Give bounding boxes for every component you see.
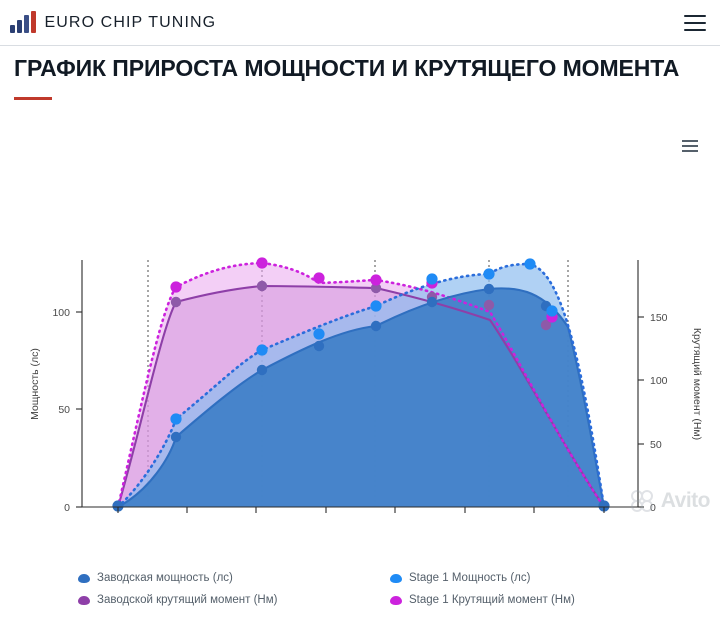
y-axis-left-ticks [76, 312, 82, 507]
legend-marker-stock-torque [78, 596, 90, 605]
y-right-tick-150: 150 [650, 312, 668, 324]
legend-item-stock-power[interactable]: Заводская мощность (лс) [78, 567, 277, 589]
legend-marker-stock-power [78, 574, 90, 583]
legend-marker-stage1-torque [390, 596, 402, 605]
legend-label-stage1-power: Stage 1 Мощность (лс) [409, 572, 530, 584]
y-right-tick-100: 100 [650, 375, 668, 387]
brand-name: EURO CHIP TUNING [45, 14, 217, 32]
legend-item-stage1-power[interactable]: Stage 1 Мощность (лс) [390, 567, 575, 589]
chart-container: 100 50 0 150 100 50 0 [0, 112, 720, 517]
page-root: EURO CHIP TUNING ГРАФИК ПРИРОСТА МОЩНОСТ… [0, 0, 720, 517]
chart-legend: Заводская мощность (лс) Заводской крутящ… [0, 567, 720, 619]
brand-logo[interactable]: EURO CHIP TUNING [10, 13, 216, 33]
y-right-tick-0: 0 [650, 502, 656, 514]
page-title: ГРАФИК ПРИРОСТА МОЩНОСТИ И КРУТЯЩЕГО МОМ… [14, 55, 704, 82]
bar-chart-logo-icon [10, 13, 36, 33]
y-left-tick-100: 100 [52, 307, 70, 319]
y-right-tick-50: 50 [650, 439, 662, 451]
legend-item-stock-torque[interactable]: Заводской крутящий момент (Нм) [78, 589, 277, 611]
y-left-tick-50: 50 [58, 404, 70, 416]
site-header: EURO CHIP TUNING [0, 0, 720, 46]
legend-label-stage1-torque: Stage 1 Крутящий момент (Нм) [409, 594, 575, 606]
title-underline-rule [14, 97, 52, 100]
legend-label-stock-power: Заводская мощность (лс) [97, 572, 233, 584]
legend-label-stock-torque: Заводской крутящий момент (Нм) [97, 594, 277, 606]
y-axis-right-label: Крутящий момент (Нм) [691, 328, 703, 440]
legend-marker-stage1-power [390, 574, 402, 583]
y-axis-right-ticks [638, 317, 644, 507]
hamburger-menu-icon[interactable] [684, 15, 706, 31]
x-axis-ticks [118, 507, 604, 513]
dyno-chart: 100 50 0 150 100 50 0 [0, 112, 720, 517]
y-axis-left-label: Мощность (лс) [29, 348, 41, 420]
y-left-tick-0: 0 [64, 502, 70, 514]
legend-item-stage1-torque[interactable]: Stage 1 Крутящий момент (Нм) [390, 589, 575, 611]
